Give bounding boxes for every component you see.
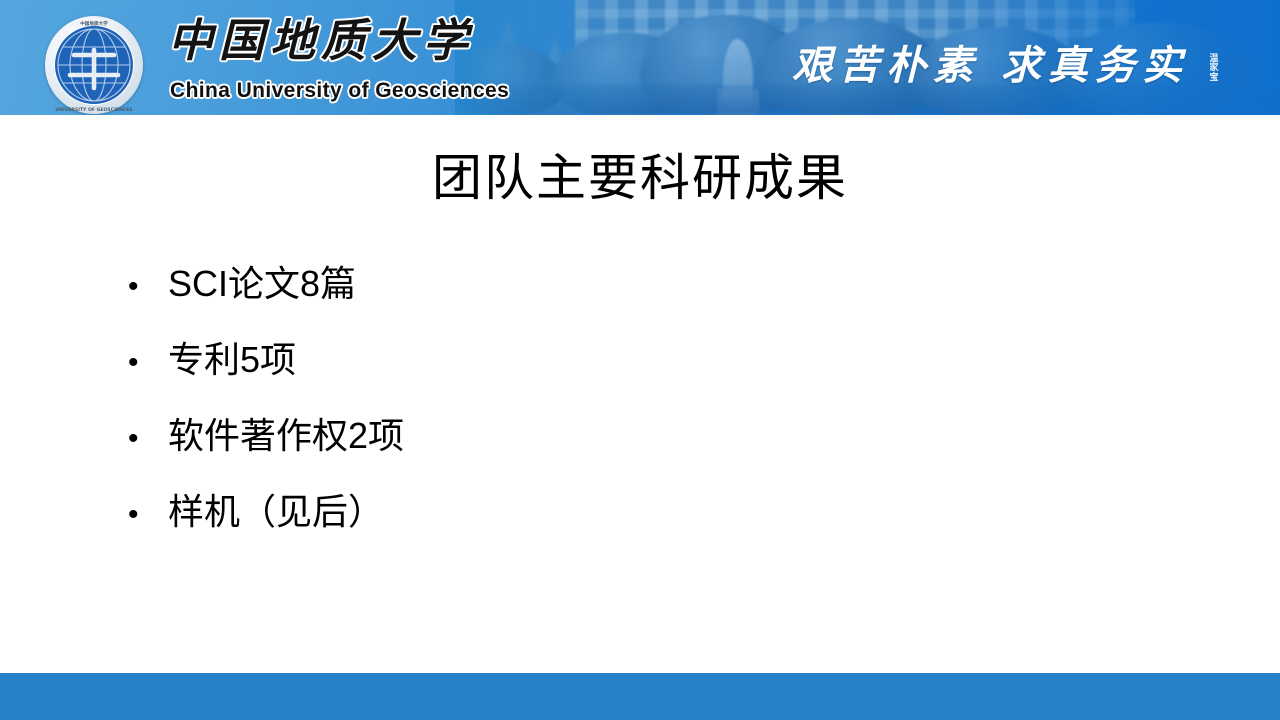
list-item: • SCI论文8篇 xyxy=(128,256,1028,332)
university-seal-icon: 中国地质大学 UNIVERSITY OF GEOSCIENCES xyxy=(45,16,143,114)
page-title: 团队主要科研成果 xyxy=(0,147,1280,209)
university-name-en: China University of Geosciences xyxy=(170,80,509,101)
list-item-label: SCI论文8篇 xyxy=(168,256,356,312)
list-item: • 专利5项 xyxy=(128,332,1028,408)
bullet-marker-icon: • xyxy=(128,335,168,391)
bullet-marker-icon: • xyxy=(128,487,168,543)
footer-bar xyxy=(0,673,1280,720)
svg-text:中国地质大学: 中国地质大学 xyxy=(80,20,108,27)
header-banner: 中国地质大学 UNIVERSITY OF GEOSCIENCES 中国地质大学 … xyxy=(0,0,1280,115)
list-item-label: 软件著作权2项 xyxy=(168,408,404,464)
bullet-marker-icon: • xyxy=(128,259,168,315)
bullet-marker-icon: • xyxy=(128,411,168,467)
list-item-label: 样机（见后） xyxy=(168,484,384,540)
motto-signature: 温家宝 xyxy=(1206,55,1222,83)
list-item: • 软件著作权2项 xyxy=(128,408,1028,484)
svg-text:UNIVERSITY OF GEOSCIENCES: UNIVERSITY OF GEOSCIENCES xyxy=(55,107,132,113)
university-motto: 艰苦朴素 求真务实 xyxy=(792,46,1189,86)
achievements-list: • SCI论文8篇 • 专利5项 • 软件著作权2项 • 样机（见后） xyxy=(128,256,1028,560)
university-name-cn: 中国地质大学 xyxy=(168,18,474,63)
list-item: • 样机（见后） xyxy=(128,484,1028,560)
list-item-label: 专利5项 xyxy=(168,332,296,388)
